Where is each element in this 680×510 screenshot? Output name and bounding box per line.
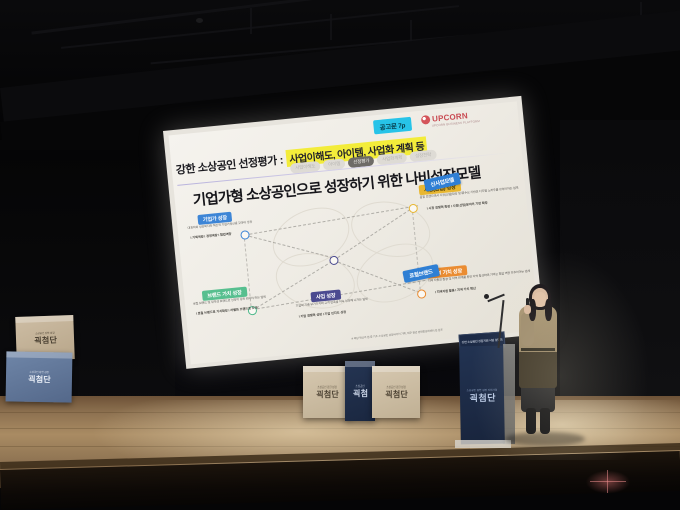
speaker-boot bbox=[540, 408, 550, 434]
cube-logo: 괵 첨 단 bbox=[316, 391, 338, 399]
lens-flare-ray bbox=[590, 481, 626, 482]
cube-logo-sub: 소상공인 강한 성장 bbox=[317, 385, 337, 389]
branding-cube: 소상공인 괵 첨 bbox=[345, 361, 375, 421]
podium-logo-sub: 소상공인 강한 성장 지원사업 bbox=[466, 387, 497, 392]
projected-slide: 공고문 7p UPCORN UPCORN BUSINESS PLATFORM 강… bbox=[168, 101, 539, 364]
speaker-belt bbox=[521, 348, 555, 351]
cube-top-face bbox=[15, 315, 73, 323]
speaker-shadow bbox=[505, 432, 585, 446]
cube-logo-sub: 소상공인 강한 성장 bbox=[29, 370, 49, 374]
stage-scene: 공고문 7p UPCORN UPCORN BUSINESS PLATFORM 강… bbox=[0, 0, 680, 510]
speaker-hair-strand bbox=[545, 299, 552, 321]
lens-flare-ray bbox=[607, 470, 608, 493]
stage-light-fixture bbox=[196, 18, 203, 23]
cube-top-face bbox=[303, 366, 351, 372]
branding-cube: 소상공인 강한 성장 괵 첨 단 bbox=[6, 351, 73, 402]
podium-sign-text: 강한 소상공인 성장지원 사업 설명회 bbox=[461, 338, 502, 345]
podium-side-panel bbox=[503, 344, 515, 444]
branding-cube: 소상공인 강한 성장 괵 첨 단 bbox=[303, 366, 351, 418]
lens-flare bbox=[585, 470, 631, 494]
slide-title: 강한 소상공인 선정평가 bbox=[175, 152, 277, 178]
diagram-node-region bbox=[417, 289, 427, 299]
cube-top-face bbox=[6, 351, 72, 358]
node-bullets-brand: l 로컬 브랜드로 가치확장 l 차별화 브랜드로 도약 bbox=[196, 306, 258, 317]
projection-screen: 공고문 7p UPCORN UPCORN BUSINESS PLATFORM 강… bbox=[163, 96, 545, 369]
title-colon: : bbox=[279, 154, 284, 166]
cube-logo-sub: 소상공인 강한 성장 bbox=[386, 385, 406, 389]
speaker-boot bbox=[526, 408, 536, 434]
diagram-node-entrepreneur bbox=[240, 230, 250, 240]
cube-logo: 괵 첨 bbox=[353, 390, 367, 398]
cube-logo: 괵 첨 단 bbox=[34, 337, 56, 346]
node-bullets-region: l 지역자원 활용 l 지역 가치 확산 bbox=[435, 286, 476, 295]
cube-logo: 괵 첨 단 bbox=[385, 391, 407, 399]
truss-support bbox=[250, 8, 252, 34]
microphone-icon bbox=[484, 294, 489, 299]
branding-cube: 소상공인 강한 성장 괵 첨 단 bbox=[372, 366, 420, 418]
node-bullets-business: l 기업 경쟁력 성장 l 기업 인지도 성장 bbox=[299, 310, 347, 319]
node-bullets-entrepreneur: l 기획역량 l 경영역량 l 협업역량 bbox=[190, 232, 231, 241]
cube-logo-sub: 소상공인 강한 성장 bbox=[35, 331, 55, 336]
document-page-badge: 공고문 7p bbox=[373, 117, 412, 135]
brand-mark-icon bbox=[421, 115, 431, 125]
node-bullets-market: l 시장 경쟁력 확장 l 시장(산업)분야의 기반 확장 bbox=[427, 201, 488, 212]
podium: 소상공인 강한 성장 지원사업 괵 첨 단 bbox=[459, 346, 505, 445]
speaker-hand bbox=[524, 305, 531, 314]
speaker-coat-lower bbox=[519, 352, 557, 388]
cube-top-face bbox=[345, 361, 375, 367]
podium-base bbox=[455, 440, 511, 448]
cube-logo: 괵 첨 단 bbox=[28, 376, 50, 384]
cube-top-face bbox=[372, 366, 420, 372]
cube-logo-sub: 소상공인 bbox=[355, 384, 364, 388]
truss-support bbox=[330, 14, 332, 40]
podium-logo: 괵 첨 단 bbox=[470, 393, 495, 402]
